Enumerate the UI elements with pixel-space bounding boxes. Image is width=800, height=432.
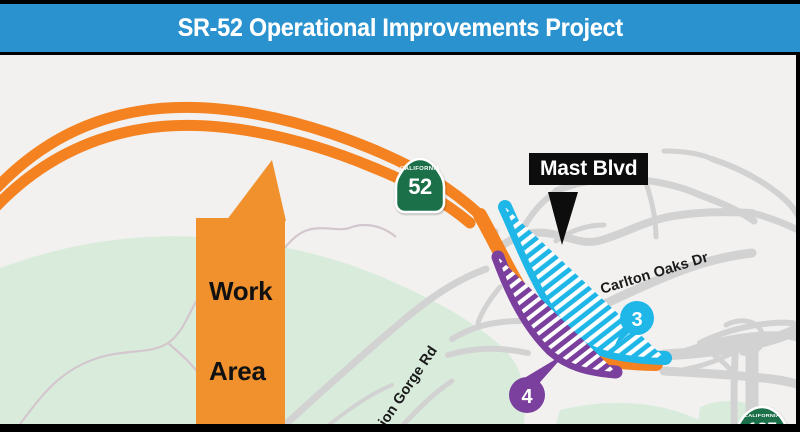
right-border: [796, 55, 800, 424]
header-banner: SR-52 Operational Improvements Project: [0, 4, 800, 52]
mast-blvd-callout: Mast Blvd: [529, 153, 648, 185]
shield-125-route-label: 125: [739, 420, 785, 424]
work-area-line2: Area: [209, 358, 272, 385]
shield-52-route-label: 52: [400, 174, 440, 200]
shield-125-state-label: CALIFORNIA: [739, 413, 785, 418]
marker-pin-4-label: 4: [512, 386, 542, 409]
work-area-callout: Work Area: [196, 218, 285, 424]
map-canvas: Work Area Mast Blvd Carlton Oaks Dr Miss…: [0, 55, 800, 424]
shield-52-state-label: CALIFORNIA: [400, 166, 440, 171]
map-figure: SR-52 Operational Improvements Project: [0, 0, 800, 432]
work-area-line1: Work: [209, 278, 272, 305]
map-svg: [0, 55, 800, 424]
page-title: SR-52 Operational Improvements Project: [177, 14, 622, 43]
marker-pin-3-label: 3: [622, 309, 652, 332]
